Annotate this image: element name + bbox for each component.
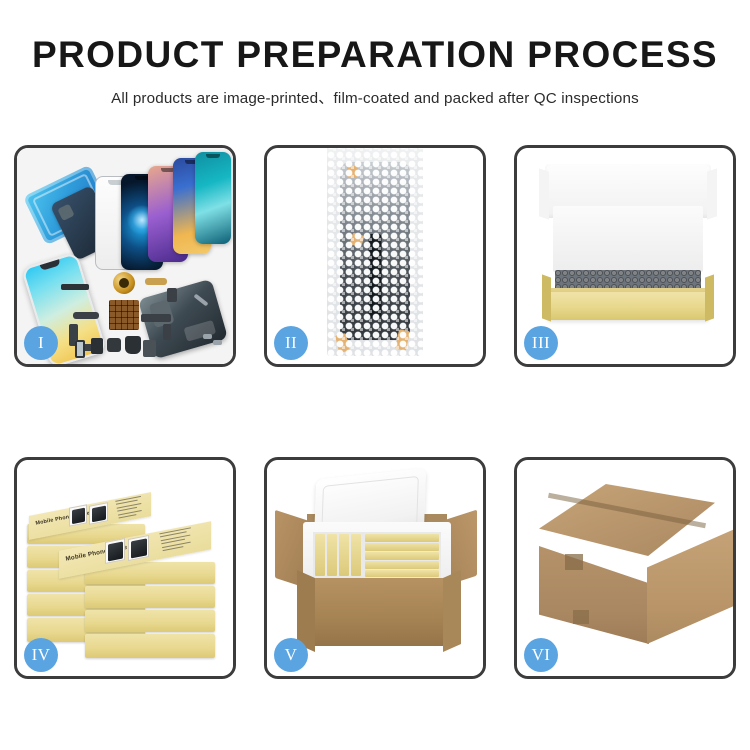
- step-badge-3: III: [524, 326, 558, 360]
- step-badge-2: II: [274, 326, 308, 360]
- panel-step-5[interactable]: V: [264, 457, 486, 679]
- box-product-photo: [69, 504, 87, 526]
- carton-front-icon: [311, 578, 447, 646]
- screw-icon: [213, 340, 222, 345]
- yellow-box-front-icon: [547, 292, 709, 320]
- white-foam-sheet-icon: [553, 206, 703, 272]
- part-sim-tray-icon: [75, 340, 85, 358]
- part-shield-icon: [163, 324, 171, 340]
- carton-left-face-icon: [539, 546, 649, 644]
- panel-step-1[interactable]: I: [14, 145, 236, 367]
- screw-icon: [203, 334, 212, 339]
- part-connector-icon: [73, 312, 99, 319]
- panel-step-2[interactable]: II: [264, 145, 486, 367]
- box-stack-icon: Mobile Phone Spare Parts Mobile Phone Sp…: [25, 478, 229, 666]
- panel-step-6[interactable]: VI: [514, 457, 736, 679]
- part-ribbon-icon: [141, 314, 171, 322]
- part-button-icon: [107, 338, 121, 352]
- part-earpiece-icon: [61, 284, 89, 290]
- part-vibrator-icon: [91, 338, 103, 354]
- process-steps-grid: I II III: [14, 145, 736, 679]
- page-subtitle: All products are image-printed、film-coat…: [0, 86, 750, 108]
- panel-step-4[interactable]: Mobile Phone Spare Parts Mobile Phone Sp…: [14, 457, 236, 679]
- logic-board-chip-icon: [109, 300, 139, 330]
- speaker-module-icon: [113, 272, 135, 294]
- box-product-photo: [105, 538, 125, 564]
- step-badge-1: I: [24, 326, 58, 360]
- part-camera-icon: [167, 288, 177, 302]
- part-gold-contact-icon: [145, 278, 167, 285]
- panel-step-3[interactable]: III: [514, 145, 736, 367]
- page-title: PRODUCT PREPARATION PROCESS: [0, 36, 750, 75]
- box-product-photo: [128, 535, 149, 561]
- bubble-highlight-icon: [327, 148, 423, 356]
- carton-tape-icon: [573, 610, 589, 624]
- page-header: PRODUCT PREPARATION PROCESS All products…: [0, 0, 750, 108]
- phone-display-teal-icon: [195, 152, 231, 244]
- part-taptic-icon: [125, 336, 141, 354]
- inner-boxes-group-icon: [313, 532, 441, 578]
- step-badge-6: VI: [524, 638, 558, 672]
- step-badge-4: IV: [24, 638, 58, 672]
- carton-tape-icon: [565, 554, 583, 570]
- step-badge-5: V: [274, 638, 308, 672]
- part-sensor-icon: [143, 340, 156, 357]
- box-product-photo: [89, 502, 108, 525]
